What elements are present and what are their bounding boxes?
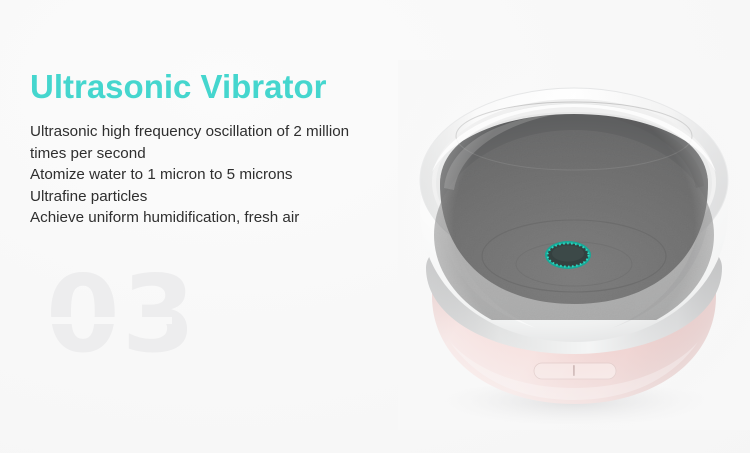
control-panel [534,363,616,379]
product-feature-slide: 03 Ultrasonic Vibrator Ultrasonic high f… [0,0,750,453]
step-number-strike [44,317,172,324]
description-line: Achieve uniform humidification, fresh ai… [30,207,450,229]
ultrasonic-disc [545,241,591,269]
description-line: Ultrafine particles [30,186,450,208]
page-title: Ultrasonic Vibrator [30,68,326,106]
step-number: 03 [46,262,198,368]
description-line: Ultrasonic high frequency oscillation of… [30,121,450,143]
description-line: Atomize water to 1 micron to 5 microns [30,164,450,186]
description-block: Ultrasonic high frequency oscillation of… [30,121,450,229]
description-line: times per second [30,143,450,165]
product-image [398,60,750,430]
